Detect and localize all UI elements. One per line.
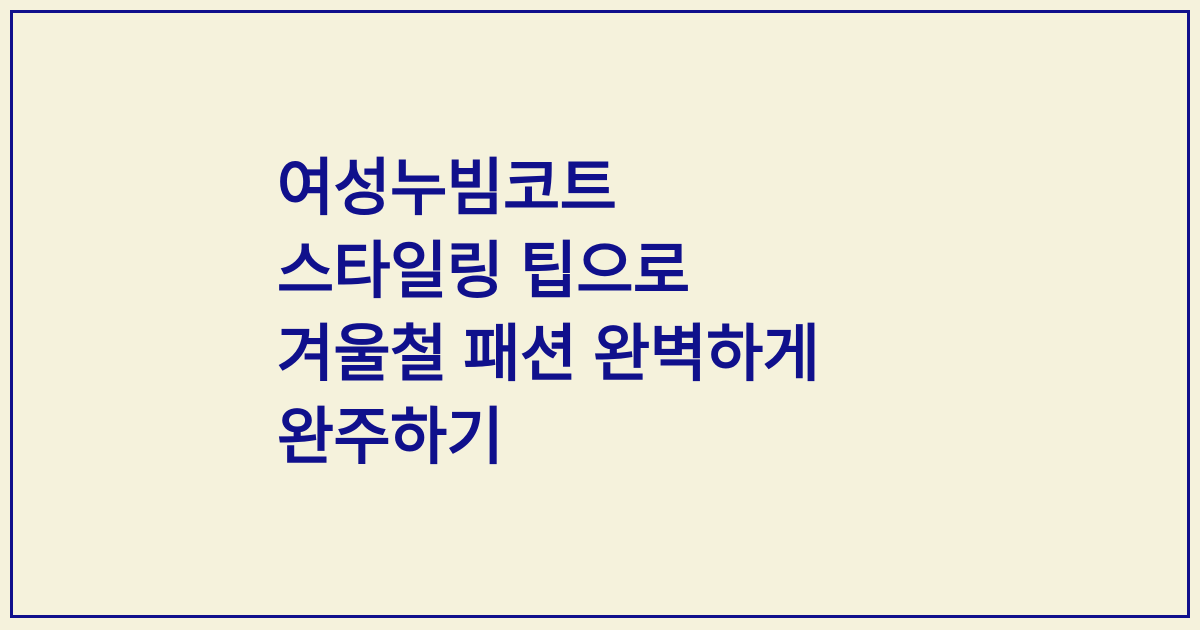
title-line-3: 겨울철 패션 완벽하게 [277,313,1157,396]
title-line-2: 스타일링 팁으로 [277,230,1157,313]
page-title: 여성누빔코트 스타일링 팁으로 겨울철 패션 완벽하게 완주하기 [277,147,1157,479]
title-card: 여성누빔코트 스타일링 팁으로 겨울철 패션 완벽하게 완주하기 [0,0,1200,630]
title-line-4: 완주하기 [277,396,1157,479]
title-line-1: 여성누빔코트 [277,147,1157,230]
card-border-frame: 여성누빔코트 스타일링 팁으로 겨울철 패션 완벽하게 완주하기 [10,10,1190,618]
